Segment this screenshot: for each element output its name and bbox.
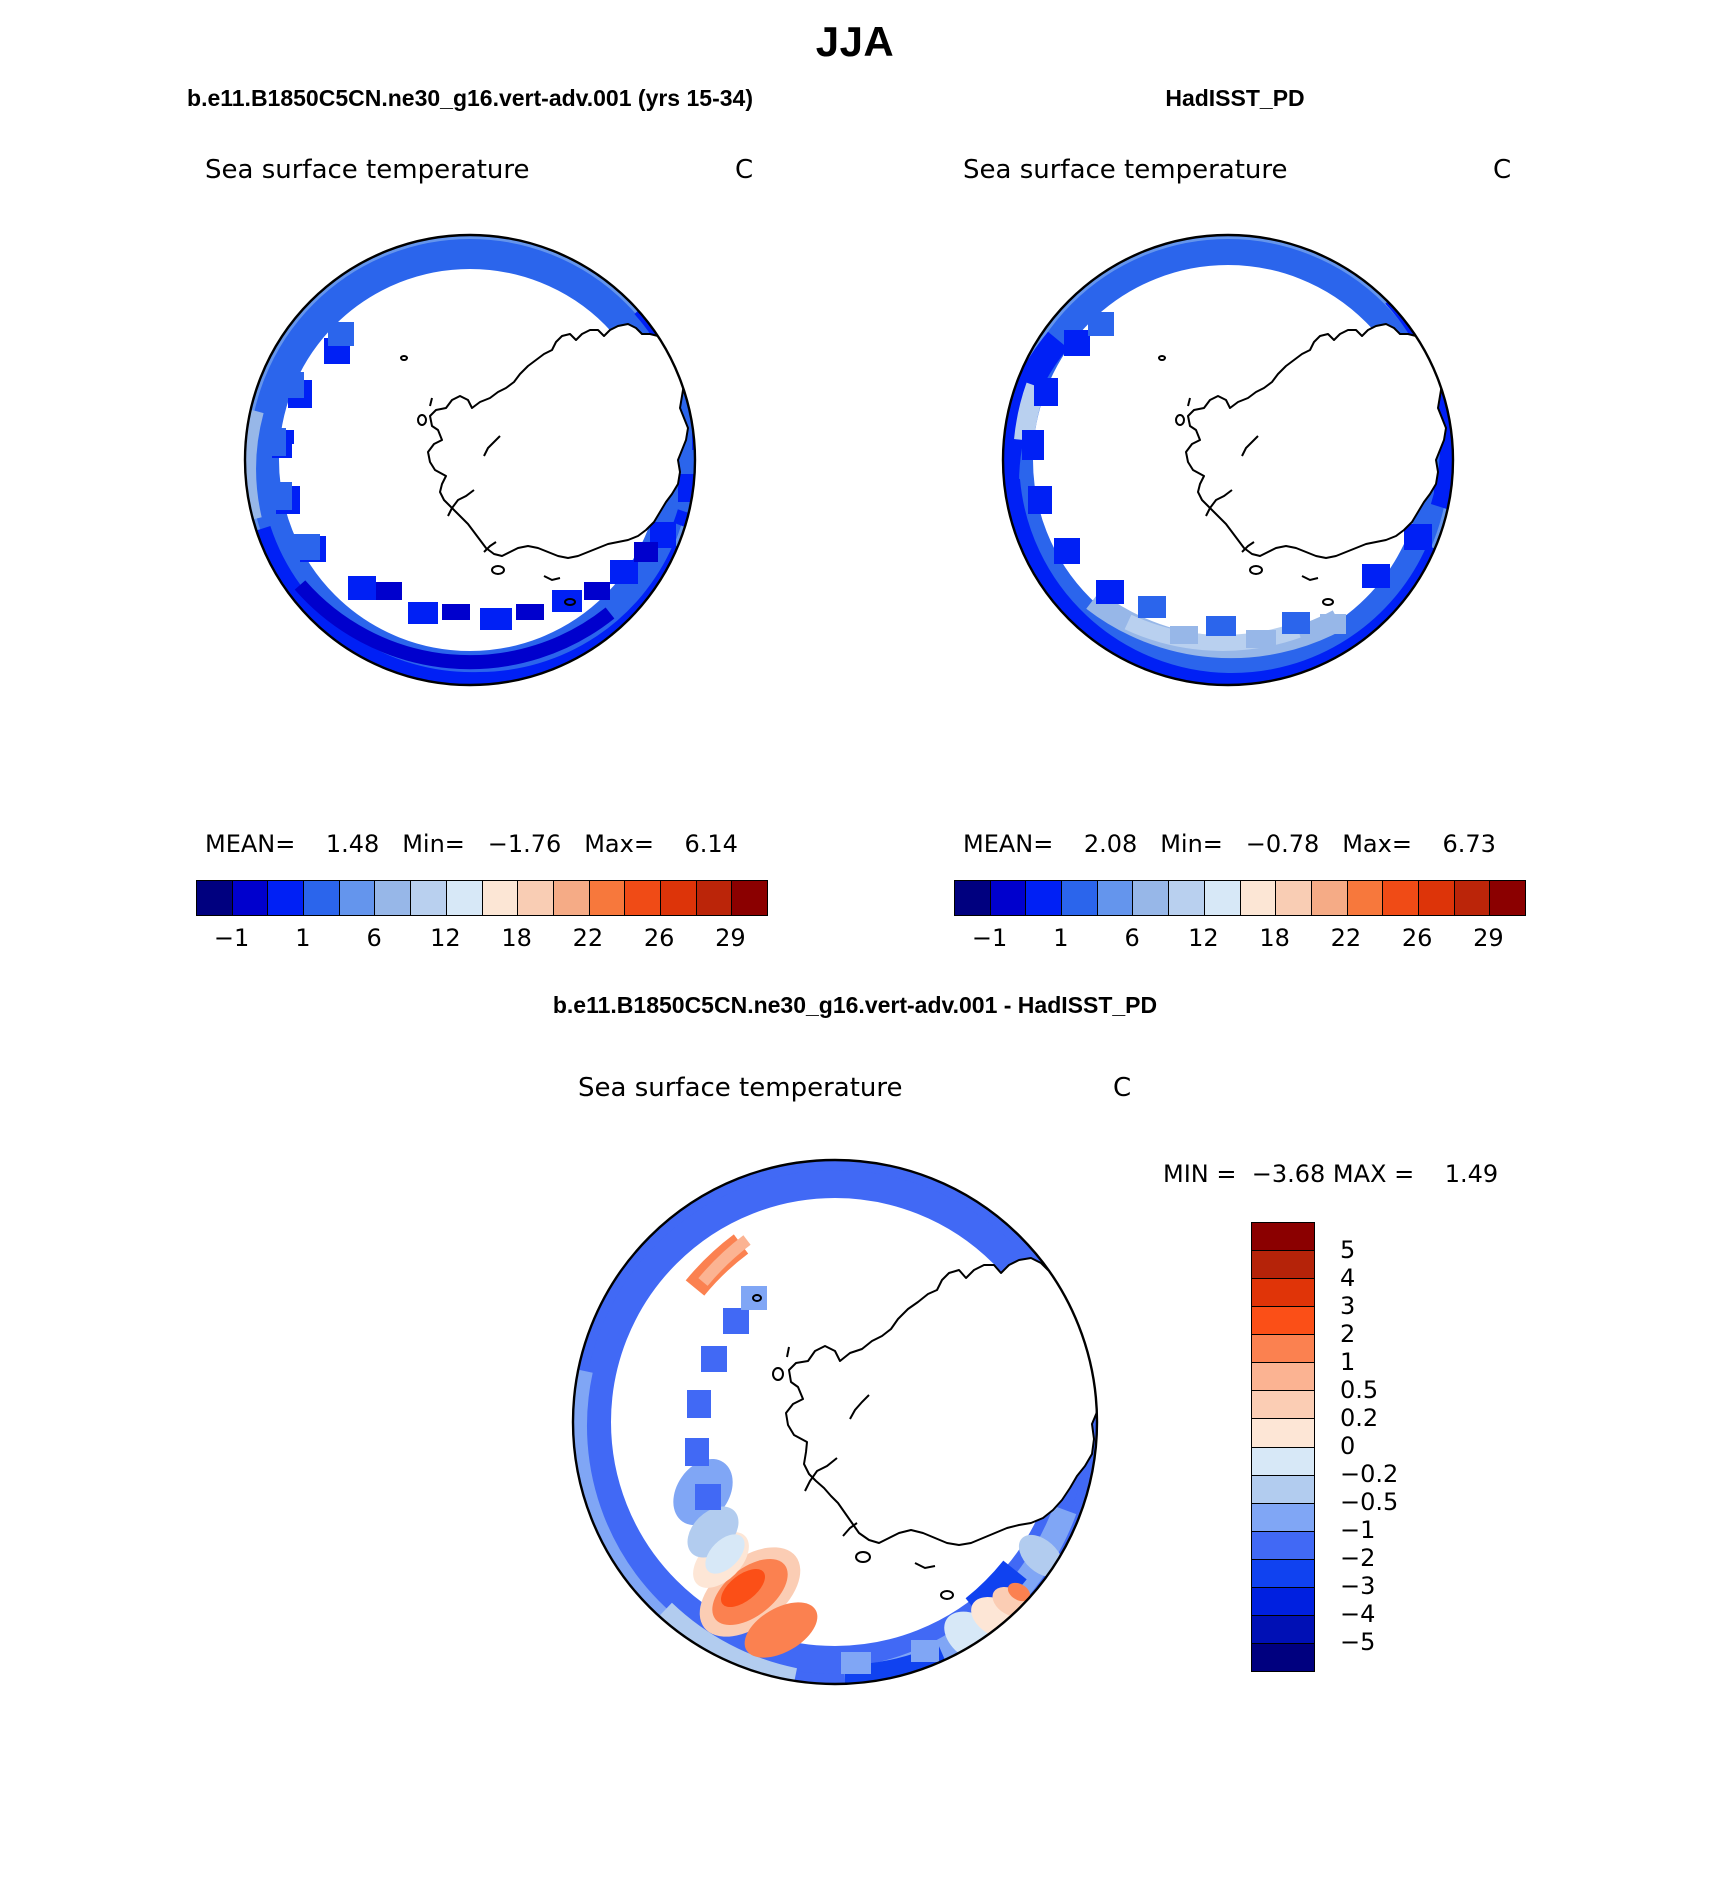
model-variable-label: Sea surface temperature [205,155,529,185]
colorbar-segment [1252,1448,1314,1476]
colorbar-tick-label: 22 [573,924,604,952]
colorbar-segment [1252,1223,1314,1251]
colorbar-segment [1490,881,1525,915]
colorbar-tick-label: 18 [501,924,532,952]
colorbar-segment [1383,881,1419,915]
colorbar-tick-label: 3 [1340,1292,1355,1320]
colorbar-tick-label: −1 [1340,1516,1375,1544]
colorbar-tick-label: −3 [1340,1572,1375,1600]
colorbar-segment [1252,1279,1314,1307]
colorbar-segment [447,881,483,915]
colorbar-segment [697,881,733,915]
obs-colorbar-labels: −1 1 6 12 18 22 26 29 [954,924,1524,952]
colorbar-segment [1098,881,1134,915]
colorbar-tick-label: 26 [644,924,675,952]
colorbar-tick-label: 4 [1340,1264,1355,1292]
colorbar-tick-label: 1 [1340,1348,1355,1376]
obs-unit-label: C [1493,155,1511,185]
colorbar-segment [1133,881,1169,915]
model-panel-title: b.e11.B1850C5CN.ne30_g16.vert-adv.001 (y… [90,85,850,112]
colorbar-segment [340,881,376,915]
diff-colorbar [1251,1222,1315,1672]
colorbar-segment [955,881,991,915]
colorbar-segment [1252,1588,1314,1616]
colorbar-segment [1169,881,1205,915]
colorbar-tick-label: 1 [1053,924,1068,952]
colorbar-tick-label: −1 [214,924,249,952]
colorbar-segment [1252,1644,1314,1671]
colorbar-segment [233,881,269,915]
colorbar-segment [661,881,697,915]
season-title: JJA [0,18,1710,66]
colorbar-segment [1241,881,1277,915]
colorbar-tick-label: −5 [1340,1628,1375,1656]
colorbar-segment [268,881,304,915]
obs-variable-label: Sea surface temperature [963,155,1287,185]
diff-polar-map [545,1140,1125,1700]
colorbar-segment [1252,1616,1314,1644]
diff-variable-label: Sea surface temperature [578,1073,902,1103]
colorbar-segment [1252,1251,1314,1279]
colorbar-segment [1312,881,1348,915]
colorbar-tick-label: 26 [1402,924,1433,952]
colorbar-segment [375,881,411,915]
colorbar-tick-label: 18 [1259,924,1290,952]
colorbar-segment [1252,1532,1314,1560]
colorbar-segment [1419,881,1455,915]
colorbar-segment [1252,1363,1314,1391]
colorbar-segment [411,881,447,915]
colorbar-segment [483,881,519,915]
model-unit-label: C [735,155,753,185]
colorbar-segment [1062,881,1098,915]
obs-panel-title: HadISST_PD [855,85,1615,112]
colorbar-tick-label: 6 [1124,924,1139,952]
colorbar-tick-label: 0.2 [1340,1404,1378,1432]
obs-colorbar [954,880,1526,916]
colorbar-tick-label: −4 [1340,1600,1375,1628]
colorbar-tick-label: 22 [1331,924,1362,952]
model-colorbar [196,880,768,916]
obs-polar-map [938,230,1518,690]
colorbar-segment [1276,881,1312,915]
colorbar-segment [1252,1504,1314,1532]
colorbar-segment [1205,881,1241,915]
colorbar-segment [1252,1307,1314,1335]
model-stats: MEAN= 1.48 Min= −1.76 Max= 6.14 [205,830,738,858]
colorbar-tick-label: 5 [1340,1236,1355,1264]
colorbar-tick-label: 6 [366,924,381,952]
colorbar-segment [1252,1419,1314,1447]
diff-colorbar-labels: 5 4 3 2 1 0.5 0.2 0 −0.2 −0.5 −1 −2 −3 −… [1340,1222,1450,1670]
colorbar-segment [1026,881,1062,915]
colorbar-tick-label: 0 [1340,1432,1355,1460]
colorbar-segment [1252,1560,1314,1588]
colorbar-segment [1455,881,1491,915]
model-polar-map [180,230,760,690]
colorbar-segment [518,881,554,915]
colorbar-segment [197,881,233,915]
colorbar-tick-label: 12 [430,924,461,952]
diff-unit-label: C [1113,1073,1131,1103]
colorbar-tick-label: 2 [1340,1320,1355,1348]
diff-minmax: MIN = −3.68 MAX = 1.49 [1163,1160,1498,1188]
obs-stats: MEAN= 2.08 Min= −0.78 Max= 6.73 [963,830,1496,858]
model-colorbar-labels: −1 1 6 12 18 22 26 29 [196,924,766,952]
colorbar-segment [991,881,1027,915]
colorbar-segment [1348,881,1384,915]
colorbar-segment [1252,1391,1314,1419]
colorbar-tick-label: −1 [972,924,1007,952]
colorbar-segment [304,881,340,915]
colorbar-tick-label: 0.5 [1340,1376,1378,1404]
colorbar-tick-label: 29 [1473,924,1504,952]
colorbar-segment [1252,1335,1314,1363]
colorbar-tick-label: 1 [295,924,310,952]
colorbar-tick-label: −0.2 [1340,1460,1398,1488]
colorbar-tick-label: 12 [1188,924,1219,952]
colorbar-tick-label: −2 [1340,1544,1375,1572]
colorbar-segment [554,881,590,915]
colorbar-tick-label: −0.5 [1340,1488,1398,1516]
colorbar-segment [732,881,767,915]
colorbar-tick-label: 29 [715,924,746,952]
diff-panel-title: b.e11.B1850C5CN.ne30_g16.vert-adv.001 - … [0,992,1710,1019]
colorbar-segment [1252,1476,1314,1504]
colorbar-segment [625,881,661,915]
colorbar-segment [590,881,626,915]
